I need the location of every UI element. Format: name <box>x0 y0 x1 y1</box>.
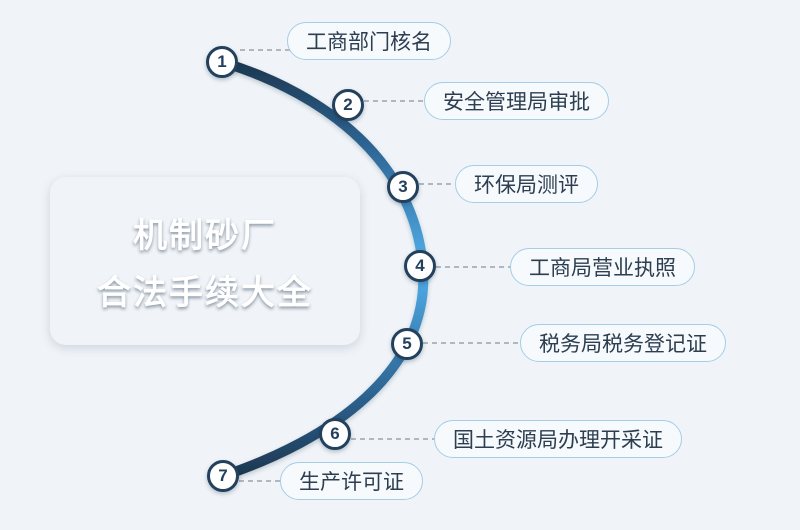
title-line-secondary: 合法手续大全 <box>97 265 313 314</box>
title-line-primary: 机制砂厂 <box>133 208 277 257</box>
step-circle-4[interactable]: 4 <box>404 250 436 282</box>
step-label-1[interactable]: 工商部门核名 <box>287 22 451 60</box>
step-label-4[interactable]: 工商局营业执照 <box>510 248 695 286</box>
infographic-root: 机制砂厂 合法手续大全 1 2 3 4 5 6 7 工商部门核名 安全管理局审批… <box>0 0 800 530</box>
step-circle-1[interactable]: 1 <box>206 46 238 78</box>
step-label-6[interactable]: 国土资源局办理开采证 <box>434 420 682 458</box>
title-card: 机制砂厂 合法手续大全 <box>50 177 360 345</box>
step-circle-6[interactable]: 6 <box>319 418 351 450</box>
step-label-2[interactable]: 安全管理局审批 <box>424 82 609 120</box>
step-circle-3[interactable]: 3 <box>387 171 419 203</box>
step-circle-5[interactable]: 5 <box>391 328 423 360</box>
step-circle-2[interactable]: 2 <box>332 89 364 121</box>
step-label-5[interactable]: 税务局税务登记证 <box>520 324 726 362</box>
step-label-3[interactable]: 环保局测评 <box>455 165 598 203</box>
step-label-7[interactable]: 生产许可证 <box>280 462 423 500</box>
step-circle-7[interactable]: 7 <box>207 460 239 492</box>
